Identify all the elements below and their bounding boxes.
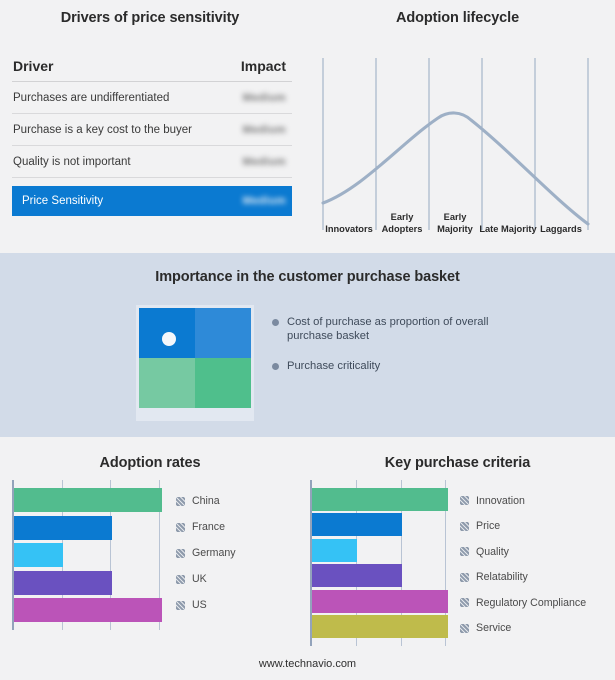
bar-row-us[interactable] <box>14 598 162 622</box>
key-purchase-criteria-legend: Innovation Price Quality Relatability Re… <box>460 488 610 641</box>
bar-row-france[interactable] <box>14 516 162 540</box>
impact-value-redacted: Medium <box>243 195 286 207</box>
driver-label: Quality is not important <box>13 156 131 168</box>
legend-item-us[interactable]: US <box>176 592 286 618</box>
driver-label: Price Sensitivity <box>22 195 103 207</box>
legend-label: Innovation <box>476 495 525 507</box>
legend-swatch-icon <box>460 624 469 633</box>
legend-swatch-icon <box>176 549 185 558</box>
basket-legend: Cost of purchase as proportion of overal… <box>272 315 572 389</box>
bar-series-criteria <box>312 488 448 638</box>
position-dot-icon <box>162 332 176 346</box>
legend-swatch-icon <box>460 496 469 505</box>
bottom-section: Adoption rates <box>0 437 615 680</box>
bar-row-price[interactable] <box>312 513 448 536</box>
bar-price[interactable] <box>312 513 402 536</box>
impact-value-redacted: Medium <box>243 124 286 136</box>
quadrant-bottom-left[interactable] <box>139 358 195 408</box>
top-section: Drivers of price sensitivity Driver Impa… <box>0 0 615 253</box>
legend-swatch-icon <box>460 598 469 607</box>
legend-label: UK <box>192 573 207 585</box>
column-header-driver: Driver <box>13 58 53 74</box>
table-row-selected-price-sensitivity[interactable]: Price Sensitivity Medium <box>12 186 292 216</box>
quadrant-matrix-card <box>136 305 254 421</box>
purchase-basket-section: Importance in the customer purchase bask… <box>0 253 615 437</box>
bar-relatability[interactable] <box>312 564 402 587</box>
legend-swatch-icon <box>176 497 185 506</box>
drivers-of-price-sensitivity-panel: Drivers of price sensitivity Driver Impa… <box>0 0 300 253</box>
legend-label: Quality <box>476 546 509 558</box>
bar-regulatory-compliance[interactable] <box>312 590 448 613</box>
basket-panel-title: Importance in the customer purchase bask… <box>0 253 615 285</box>
legend-label: Regulatory Compliance <box>476 597 586 609</box>
legend-item-germany[interactable]: Germany <box>176 540 286 566</box>
key-purchase-criteria-panel: Key purchase criteria <box>300 437 615 680</box>
legend-item-france[interactable]: France <box>176 514 286 540</box>
legend-item-relatability[interactable]: Relatability <box>460 565 610 591</box>
adoption-lifecycle-panel: Adoption lifecycle Innovators Early Adop… <box>300 0 615 253</box>
legend-item-cost-of-purchase: Cost of purchase as proportion of overal… <box>272 315 572 343</box>
legend-item-quality[interactable]: Quality <box>460 539 610 565</box>
legend-label: China <box>192 495 220 507</box>
bar-row-service[interactable] <box>312 615 448 638</box>
impact-value-redacted: Medium <box>243 156 286 168</box>
legend-swatch-icon <box>460 522 469 531</box>
legend-label: Purchase criticality <box>287 359 380 373</box>
adoption-rates-legend: China France Germany UK US <box>176 488 286 618</box>
legend-swatch-icon <box>176 575 185 584</box>
table-row[interactable]: Purchases are undifferentiated Medium <box>12 82 292 114</box>
legend-label: US <box>192 599 207 611</box>
legend-item-innovation[interactable]: Innovation <box>460 488 610 514</box>
lifecycle-curve-svg <box>313 48 603 238</box>
legend-label: France <box>192 521 225 533</box>
legend-label: Relatability <box>476 571 528 583</box>
legend-label: Germany <box>192 547 236 559</box>
bar-innovation[interactable] <box>312 488 448 511</box>
adoption-lifecycle-chart: Innovators Early Adopters Early Majority… <box>313 48 603 238</box>
stage-label-laggards: Laggards <box>532 224 590 236</box>
legend-item-china[interactable]: China <box>176 488 286 514</box>
bar-row-innovation[interactable] <box>312 488 448 511</box>
legend-item-price[interactable]: Price <box>460 514 610 540</box>
bar-service[interactable] <box>312 615 448 638</box>
table-row[interactable]: Quality is not important Medium <box>12 146 292 178</box>
legend-swatch-icon <box>176 601 185 610</box>
drivers-panel-title: Drivers of price sensitivity <box>0 10 300 26</box>
adoption-rates-chart <box>12 480 162 630</box>
impact-value-redacted: Medium <box>243 92 286 104</box>
legend-swatch-icon <box>176 523 185 532</box>
bar-row-china[interactable] <box>14 488 162 512</box>
driver-label: Purchases are undifferentiated <box>13 92 169 104</box>
legend-swatch-icon <box>460 573 469 582</box>
legend-swatch-icon <box>460 547 469 556</box>
bar-france[interactable] <box>14 516 112 540</box>
bar-row-quality[interactable] <box>312 539 448 562</box>
bar-row-germany[interactable] <box>14 543 162 567</box>
bullet-dot-icon <box>272 319 279 326</box>
key-purchase-criteria-title: Key purchase criteria <box>300 437 615 471</box>
adoption-rates-panel: Adoption rates <box>0 437 300 680</box>
table-row[interactable]: Purchase is a key cost to the buyer Medi… <box>12 114 292 146</box>
bar-quality[interactable] <box>312 539 357 562</box>
stage-label-late-majority: Late Majority <box>479 224 537 236</box>
quadrant-bottom-right[interactable] <box>195 358 251 408</box>
stage-label-early-majority: Early Majority <box>426 212 484 235</box>
adoption-rates-title: Adoption rates <box>0 437 300 471</box>
quadrant-top-right[interactable] <box>195 308 251 358</box>
stage-label-innovators: Innovators <box>320 224 378 236</box>
stage-label-early-adopters: Early Adopters <box>373 212 431 235</box>
legend-label: Cost of purchase as proportion of overal… <box>287 315 499 343</box>
bar-row-uk[interactable] <box>14 571 162 595</box>
driver-label: Purchase is a key cost to the buyer <box>13 124 192 136</box>
bar-uk[interactable] <box>14 571 112 595</box>
key-purchase-criteria-chart <box>310 480 448 646</box>
bar-row-relatability[interactable] <box>312 564 448 587</box>
legend-label: Service <box>476 622 511 634</box>
bar-china[interactable] <box>14 488 162 512</box>
legend-item-regulatory-compliance[interactable]: Regulatory Compliance <box>460 590 610 616</box>
legend-label: Price <box>476 520 500 532</box>
legend-item-purchase-criticality: Purchase criticality <box>272 359 572 373</box>
lifecycle-panel-title: Adoption lifecycle <box>300 10 615 26</box>
table-header-row: Driver Impact <box>12 58 292 82</box>
bar-row-regulatory-compliance[interactable] <box>312 590 448 613</box>
drivers-table: Driver Impact Purchases are undifferenti… <box>12 58 292 216</box>
bullet-dot-icon <box>272 363 279 370</box>
footer-url[interactable]: www.technavio.com <box>0 658 615 670</box>
bar-us[interactable] <box>14 598 162 622</box>
quadrant-matrix[interactable] <box>139 308 251 408</box>
column-header-impact: Impact <box>241 58 286 74</box>
legend-item-uk[interactable]: UK <box>176 566 286 592</box>
bar-germany[interactable] <box>14 543 63 567</box>
legend-item-service[interactable]: Service <box>460 616 610 642</box>
bar-series-adoption <box>14 488 162 622</box>
